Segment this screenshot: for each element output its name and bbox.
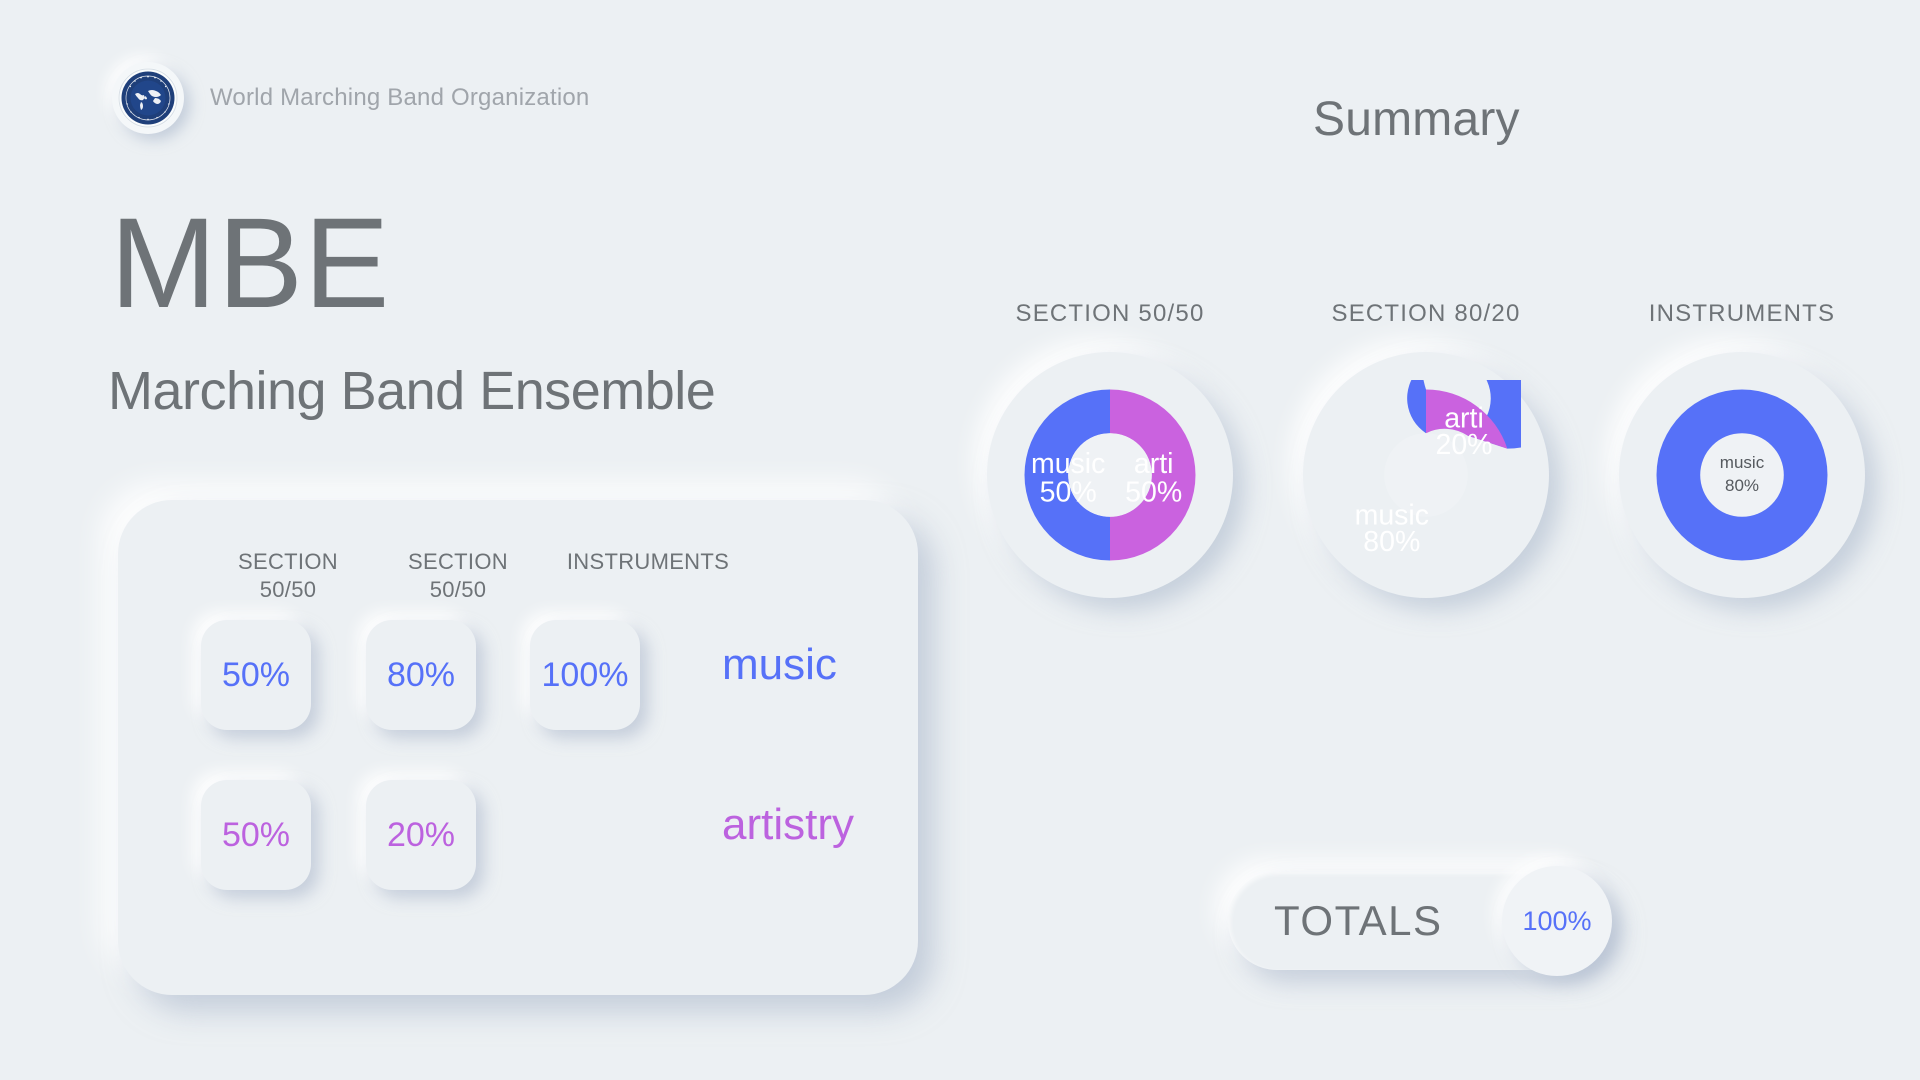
donut-card-instruments: INSTRUMENTS music 80% xyxy=(1612,300,1872,598)
value-tile-artistry-section2[interactable]: 20% xyxy=(366,780,476,890)
value-tile-music-instruments[interactable]: 100% xyxy=(530,620,640,730)
donut-chart-2: arti 20% music 80% xyxy=(1331,380,1521,570)
column-header-instruments: INSTRUMENTS xyxy=(543,548,753,576)
donut1-seg2-label-line2: 50% xyxy=(1125,477,1182,509)
column-header-section-2: SECTION 50/50 xyxy=(373,548,543,604)
brand-header: World Marching Band Organization xyxy=(112,62,589,134)
donut1-seg1-label-line2: 50% xyxy=(1040,477,1097,509)
dashboard-root: World Marching Band Organization MBE Mar… xyxy=(0,0,1920,1080)
donut-frame[interactable]: music 50% arti 50% xyxy=(987,352,1233,598)
page-title-acronym: MBE xyxy=(110,200,390,328)
column-header-line1: SECTION xyxy=(203,548,373,576)
column-header-line1: INSTRUMENTS xyxy=(543,548,753,576)
donut-card-section-80-20: SECTION 80/20 arti 20% music 80% xyxy=(1296,300,1556,598)
row-label-music: music xyxy=(722,640,837,690)
organization-name: World Marching Band Organization xyxy=(210,84,589,112)
column-header-line1: SECTION xyxy=(373,548,543,576)
totals-toggle[interactable]: TOTALS 100% xyxy=(1228,872,1608,970)
breakdown-panel: SECTION 50/50 SECTION 50/50 INSTRUMENTS … xyxy=(118,500,918,995)
globe-badge-icon xyxy=(117,67,179,129)
organization-logo xyxy=(112,62,184,134)
totals-value-knob[interactable]: 100% xyxy=(1502,866,1612,976)
donut2-seg2-label-line2: 20% xyxy=(1435,429,1492,461)
donut-card-section-50-50: SECTION 50/50 music 50% arti 50% xyxy=(980,300,1240,598)
summary-title: Summary xyxy=(1313,92,1520,147)
column-header-line2: 50/50 xyxy=(203,576,373,604)
donut-title: SECTION 80/20 xyxy=(1296,300,1556,328)
value-tile-music-section2[interactable]: 80% xyxy=(366,620,476,730)
donut-chart-3 xyxy=(1647,380,1837,570)
value-tile-music-section1[interactable]: 50% xyxy=(201,620,311,730)
donut-chart-1: music 50% arti 50% xyxy=(1015,380,1205,570)
donut-frame[interactable]: arti 20% music 80% xyxy=(1303,352,1549,598)
donut-title: SECTION 50/50 xyxy=(980,300,1240,328)
column-header-line2: 50/50 xyxy=(373,576,543,604)
donut1-seg2-label-line1: arti xyxy=(1134,448,1174,480)
value-tile-artistry-section1[interactable]: 50% xyxy=(201,780,311,890)
donut-frame[interactable]: music 80% xyxy=(1619,352,1865,598)
donut-title: INSTRUMENTS xyxy=(1612,300,1872,328)
row-label-artistry: artistry xyxy=(722,800,854,850)
donut1-seg1-label-line1: music xyxy=(1031,448,1105,480)
totals-label: TOTALS xyxy=(1274,897,1443,945)
page-subtitle: Marching Band Ensemble xyxy=(108,360,715,422)
column-header-section-1: SECTION 50/50 xyxy=(203,548,373,604)
donut2-seg1-label-line2: 80% xyxy=(1363,526,1420,558)
